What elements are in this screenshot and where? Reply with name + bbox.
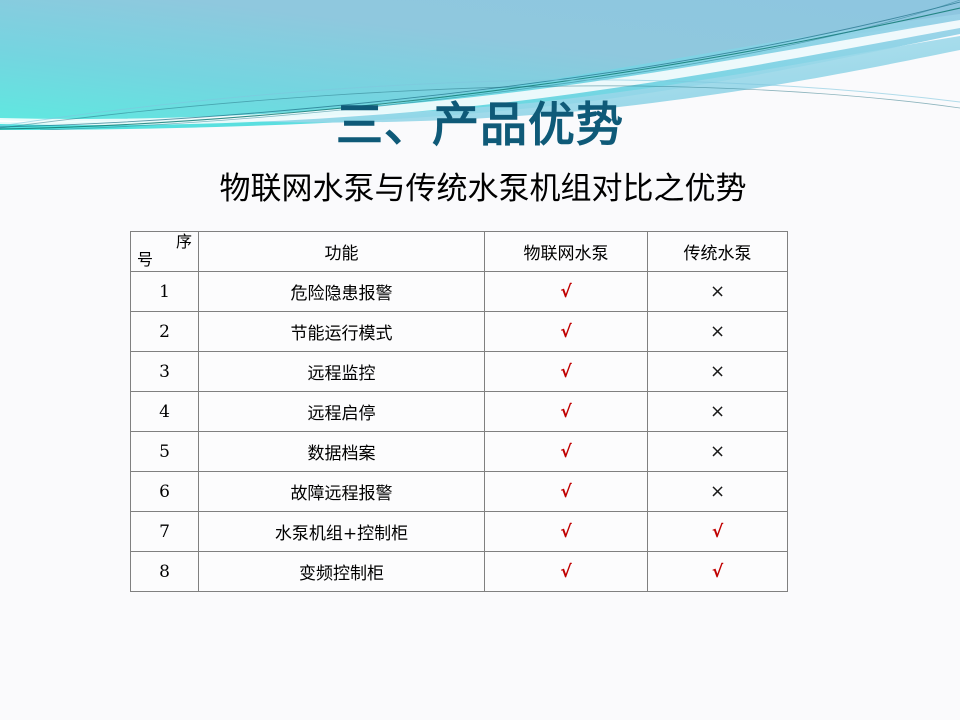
cell-serial-number: 2: [131, 312, 199, 352]
comparison-table: 序 号 功能 物联网水泵 传统水泵 1危险隐患报警√×2节能运行模式√×3远程监…: [130, 231, 788, 592]
cell-function-name: 危险隐患报警: [199, 272, 485, 312]
cell-serial-number: 8: [131, 552, 199, 592]
cell-traditional-pump-support: ×: [648, 312, 788, 352]
cell-function-name: 节能运行模式: [199, 312, 485, 352]
check-icon: √: [712, 522, 723, 542]
table-row: 3远程监控√×: [131, 352, 788, 392]
cell-serial-number: 1: [131, 272, 199, 312]
cross-icon: ×: [710, 481, 725, 502]
slide-subtitle: 物联网水泵与传统水泵机组对比之优势: [0, 163, 960, 208]
cross-icon: ×: [710, 401, 725, 422]
cell-function-name: 故障远程报警: [199, 472, 485, 512]
table-row: 4远程启停√×: [131, 392, 788, 432]
cell-function-name: 远程启停: [199, 392, 485, 432]
cell-traditional-pump-support: ×: [648, 432, 788, 472]
cross-icon: ×: [710, 441, 725, 462]
cell-function-name: 水泵机组+控制柜: [199, 512, 485, 552]
cell-serial-number: 4: [131, 392, 199, 432]
cell-function-name: 数据档案: [199, 432, 485, 472]
cross-icon: ×: [710, 321, 725, 342]
cell-traditional-pump-support: ×: [648, 272, 788, 312]
header-cell-iot-pump: 物联网水泵: [485, 232, 648, 272]
cell-traditional-pump-support: ×: [648, 392, 788, 432]
cell-serial-number: 7: [131, 512, 199, 552]
cell-traditional-pump-support: √: [648, 512, 788, 552]
check-icon: √: [560, 402, 571, 422]
cell-iot-pump-support: √: [485, 432, 648, 472]
check-icon: √: [560, 442, 571, 462]
cell-iot-pump-support: √: [485, 352, 648, 392]
cell-iot-pump-support: √: [485, 312, 648, 352]
cross-icon: ×: [710, 281, 725, 302]
cell-function-name: 远程监控: [199, 352, 485, 392]
table-row: 7水泵机组+控制柜√√: [131, 512, 788, 552]
cell-traditional-pump-support: ×: [648, 472, 788, 512]
check-icon: √: [560, 482, 571, 502]
cell-iot-pump-support: √: [485, 272, 648, 312]
check-icon: √: [560, 522, 571, 542]
slide-title: 三、产品优势: [0, 86, 960, 155]
cell-iot-pump-support: √: [485, 472, 648, 512]
cell-function-name: 变频控制柜: [199, 552, 485, 592]
table-header-row: 序 号 功能 物联网水泵 传统水泵: [131, 232, 788, 272]
table-row: 6故障远程报警√×: [131, 472, 788, 512]
serial-label-top: 序: [176, 234, 192, 250]
table-row: 1危险隐患报警√×: [131, 272, 788, 312]
cell-traditional-pump-support: ×: [648, 352, 788, 392]
check-icon: √: [560, 562, 571, 582]
check-icon: √: [712, 562, 723, 582]
header-cell-traditional-pump: 传统水泵: [648, 232, 788, 272]
table-row: 8变频控制柜√√: [131, 552, 788, 592]
check-icon: √: [560, 282, 571, 302]
cell-serial-number: 6: [131, 472, 199, 512]
table-row: 2节能运行模式√×: [131, 312, 788, 352]
serial-label-bottom: 号: [137, 252, 153, 268]
cell-traditional-pump-support: √: [648, 552, 788, 592]
cell-iot-pump-support: √: [485, 552, 648, 592]
slide-canvas: 三、产品优势 物联网水泵与传统水泵机组对比之优势 序 号 功能 物联网水泵 传统…: [0, 0, 960, 720]
cell-iot-pump-support: √: [485, 392, 648, 432]
check-icon: √: [560, 362, 571, 382]
cell-serial-number: 5: [131, 432, 199, 472]
header-cell-serial-number: 序 号: [131, 232, 199, 272]
cross-icon: ×: [710, 361, 725, 382]
cell-iot-pump-support: √: [485, 512, 648, 552]
table-body: 1危险隐患报警√×2节能运行模式√×3远程监控√×4远程启停√×5数据档案√×6…: [131, 272, 788, 592]
header-cell-function: 功能: [199, 232, 485, 272]
cell-serial-number: 3: [131, 352, 199, 392]
table-row: 5数据档案√×: [131, 432, 788, 472]
check-icon: √: [560, 322, 571, 342]
